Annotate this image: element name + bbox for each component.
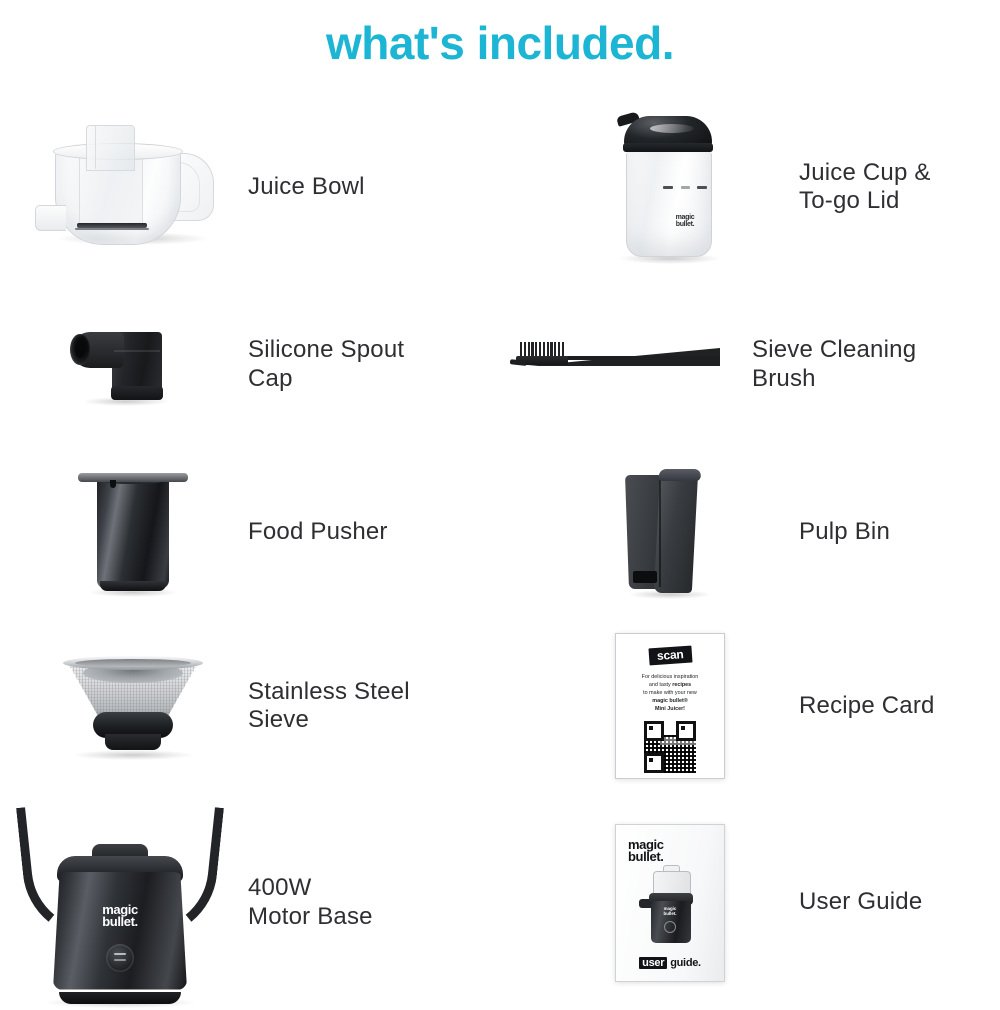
item-label: Silicone Spout Cap [248, 336, 404, 393]
power-button[interactable] [106, 944, 134, 972]
item-food-pusher: Food Pusher [0, 447, 500, 617]
user-guide-image: magic bullet. magic bullet. [585, 795, 755, 1010]
item-user-guide: magic bullet. magic bullet. [500, 795, 1000, 1010]
motor-brand-line2: bullet. [102, 914, 137, 929]
item-row: Stainless Steel Sieve scan For delicious… [0, 617, 1000, 795]
scan-badge: scan [648, 646, 692, 666]
card-line5: Mini Juicer! [655, 706, 685, 712]
food-pusher-image [18, 447, 248, 617]
stainless-steel-sieve-image [18, 617, 248, 795]
items-grid: Juice Bowl magic bullet. [0, 92, 1000, 1010]
item-label: Pulp Bin [799, 518, 890, 546]
card-line3: to make with your new [643, 690, 697, 696]
guide-footer-highlight: user [639, 957, 667, 969]
juice-cup-image: magic bullet. [585, 92, 755, 282]
sieve-cleaning-brush-image [510, 282, 740, 447]
guide-footer: user guide. [639, 957, 701, 969]
item-pulp-bin: Pulp Bin [500, 447, 1000, 617]
recipe-card-image: scan For delicious inspiration and tasty… [585, 617, 755, 795]
recipe-card-text: For delicious inspiration and tasty reci… [623, 673, 717, 714]
item-juice-bowl: Juice Bowl [0, 92, 500, 282]
guide-product-logo-line2: bullet. [664, 911, 677, 916]
item-label: 400W Motor Base [248, 874, 373, 931]
qr-code [644, 721, 696, 773]
card-line2-plain: and tasty [649, 682, 672, 688]
item-row: magic bullet. 400W Motor Base magic bull… [0, 795, 1000, 1010]
cup-brand-line1: magic [676, 214, 695, 221]
item-stainless-steel-sieve: Stainless Steel Sieve [0, 617, 500, 795]
guide-footer-rest: guide. [670, 957, 701, 969]
item-motor-base: magic bullet. 400W Motor Base [0, 795, 500, 1010]
item-label: Juice Bowl [248, 173, 365, 201]
card-line2-bold: recipes [672, 682, 691, 688]
guide-product-photo: magic bullet. [641, 871, 699, 947]
item-label: Sieve Cleaning Brush [752, 336, 916, 393]
page-title: what's included. [0, 16, 1000, 70]
whats-included-infographic: what's included. [0, 0, 1000, 1000]
item-label: Food Pusher [248, 518, 388, 546]
pulp-bin-image [585, 447, 755, 617]
item-recipe-card: scan For delicious inspiration and tasty… [500, 617, 1000, 795]
item-row: Silicone Spout Cap Sieve Cleaning Brush [0, 282, 1000, 447]
item-label: Recipe Card [799, 692, 935, 720]
card-line1: For delicious inspiration [642, 674, 699, 680]
item-row: Juice Bowl magic bullet. [0, 92, 1000, 282]
item-row: Food Pusher Pulp Bin [0, 447, 1000, 617]
item-label: User Guide [799, 888, 922, 916]
juice-bowl-image [18, 92, 248, 282]
item-sieve-cleaning-brush: Sieve Cleaning Brush [500, 282, 1000, 447]
item-juice-cup: magic bullet. Juice Cup & To-go Lid [500, 92, 1000, 282]
motor-base-image: magic bullet. [0, 795, 240, 1010]
guide-brand-line2: bullet. [628, 849, 663, 864]
cup-brand-line2: bullet. [676, 221, 695, 228]
card-line4: magic bullet® [652, 698, 687, 704]
guide-brand: magic bullet. [628, 839, 664, 864]
silicone-spout-cap-image [18, 282, 248, 447]
item-silicone-spout-cap: Silicone Spout Cap [0, 282, 500, 447]
item-label: Stainless Steel Sieve [248, 678, 410, 735]
item-label: Juice Cup & To-go Lid [799, 159, 931, 216]
